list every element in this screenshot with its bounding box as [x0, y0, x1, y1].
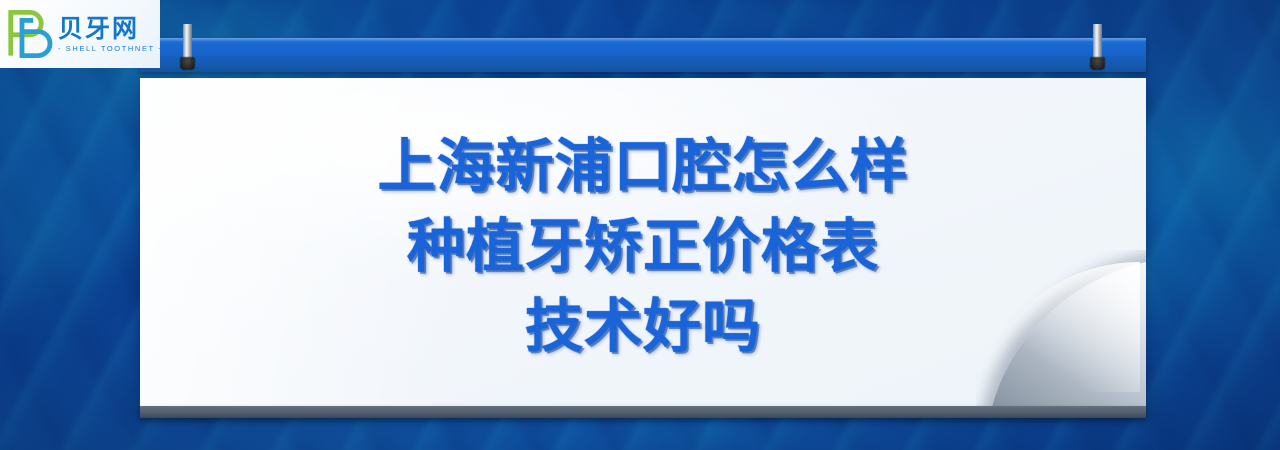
- headline-line-2: 种植牙矫正价格表: [407, 209, 879, 283]
- headline-line-1: 上海新浦口腔怎么样: [377, 129, 908, 203]
- whiteboard-panel: 上海新浦口腔怎么样 种植牙矫正价格表 技术好吗: [140, 78, 1146, 410]
- headline-line-3: 技术好吗: [525, 289, 761, 363]
- peg-base-icon: [180, 57, 195, 70]
- peg-base-icon: [1090, 57, 1105, 70]
- logo-brand-en: - SHELL TOOTHNET -: [58, 45, 162, 53]
- logo-brand-cn: 贝牙网: [58, 16, 162, 41]
- shell-b-monogram-icon: [6, 9, 54, 59]
- board-bottom-shadow-bar: [140, 406, 1146, 418]
- headline-block: 上海新浦口腔怎么样 种植牙矫正价格表 技术好吗: [140, 78, 1146, 410]
- site-logo-badge[interactable]: 贝牙网 - SHELL TOOTHNET -: [0, 0, 160, 68]
- hanging-rail: [140, 38, 1146, 72]
- logo-text-group: 贝牙网 - SHELL TOOTHNET -: [58, 16, 162, 53]
- hanger-peg-left: [182, 24, 193, 70]
- poster-banner: 上海新浦口腔怎么样 种植牙矫正价格表 技术好吗 贝牙网 - SHELL TOOT…: [0, 0, 1280, 450]
- hanger-peg-right: [1092, 24, 1103, 70]
